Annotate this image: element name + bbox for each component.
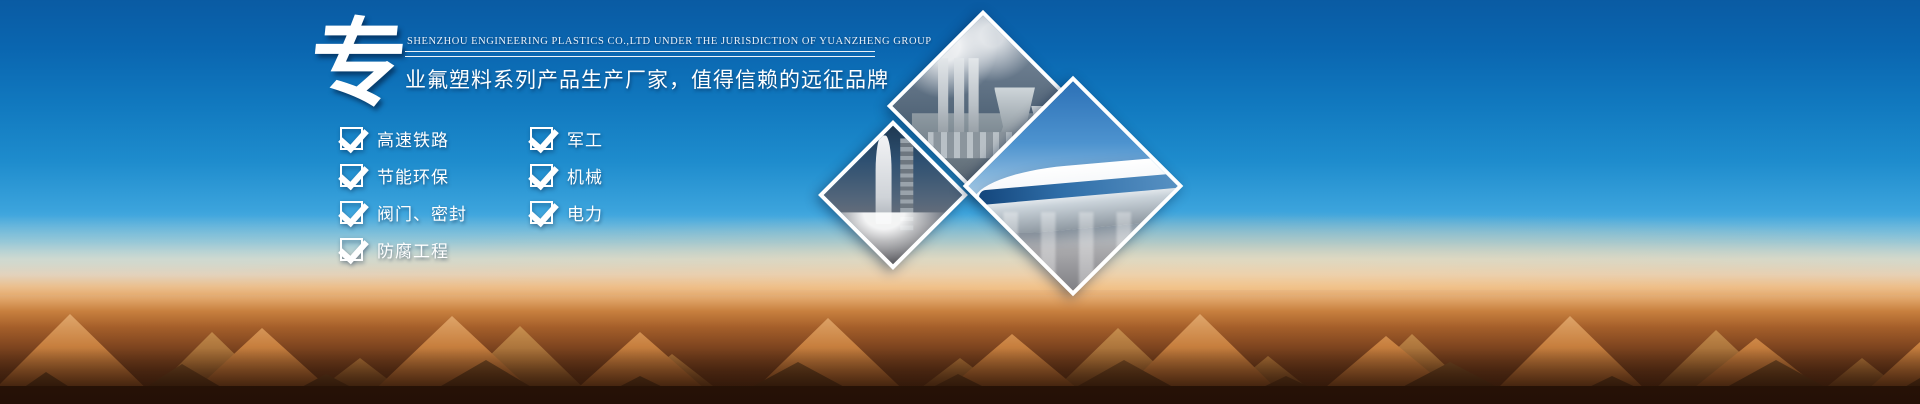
feature-item[interactable]: 高速铁路 bbox=[340, 126, 530, 151]
motion-blur-overlay bbox=[966, 212, 1181, 294]
photo-tile-group bbox=[810, 22, 1240, 282]
smokestack-icon bbox=[953, 58, 963, 143]
feature-item[interactable]: 军工 bbox=[530, 126, 720, 151]
brand-text-lines: SHENZHOU ENGINEERING PLASTICS CO.,LTD UN… bbox=[405, 36, 875, 94]
feature-item[interactable]: 阀门、密封 bbox=[340, 200, 530, 225]
feature-item[interactable]: 防腐工程 bbox=[340, 237, 530, 262]
chinese-tagline: 业氟塑料系列产品生产厂家，值得信赖的远征品牌 bbox=[405, 64, 875, 94]
checkbox-checked-icon bbox=[530, 201, 553, 224]
feature-label: 阀门、密封 bbox=[377, 200, 467, 225]
english-title: SHENZHOU ENGINEERING PLASTICS CO.,LTD UN… bbox=[405, 36, 875, 47]
feature-item[interactable]: 机械 bbox=[530, 163, 720, 188]
feature-label: 防腐工程 bbox=[377, 237, 449, 262]
brand-glyph: 专 bbox=[305, 16, 411, 112]
checkbox-checked-icon bbox=[340, 127, 363, 150]
ground-shadow bbox=[0, 348, 1920, 404]
checkbox-checked-icon bbox=[340, 201, 363, 224]
feature-list: 高速铁路 军工 节能环保 机械 阀门、密封 电力 防腐工程 bbox=[340, 120, 720, 268]
checkbox-checked-icon bbox=[340, 164, 363, 187]
feature-label: 高速铁路 bbox=[377, 126, 449, 151]
feature-label: 机械 bbox=[567, 163, 603, 188]
feature-label: 电力 bbox=[567, 200, 603, 225]
feature-item[interactable]: 电力 bbox=[530, 200, 720, 225]
checkbox-checked-icon bbox=[340, 238, 363, 261]
smokestack-icon bbox=[938, 58, 948, 143]
feature-label: 节能环保 bbox=[377, 163, 449, 188]
launch-gantry-icon bbox=[900, 138, 913, 232]
hero-banner: 专 SHENZHOU ENGINEERING PLASTICS CO.,LTD … bbox=[0, 0, 1920, 404]
divider-rule bbox=[405, 51, 875, 57]
checkbox-checked-icon bbox=[530, 127, 553, 150]
checkbox-checked-icon bbox=[530, 164, 553, 187]
brand-block: 专 SHENZHOU ENGINEERING PLASTICS CO.,LTD … bbox=[310, 14, 890, 114]
feature-label: 军工 bbox=[567, 126, 603, 151]
feature-item[interactable]: 节能环保 bbox=[340, 163, 530, 188]
smokestack-icon bbox=[968, 58, 978, 143]
